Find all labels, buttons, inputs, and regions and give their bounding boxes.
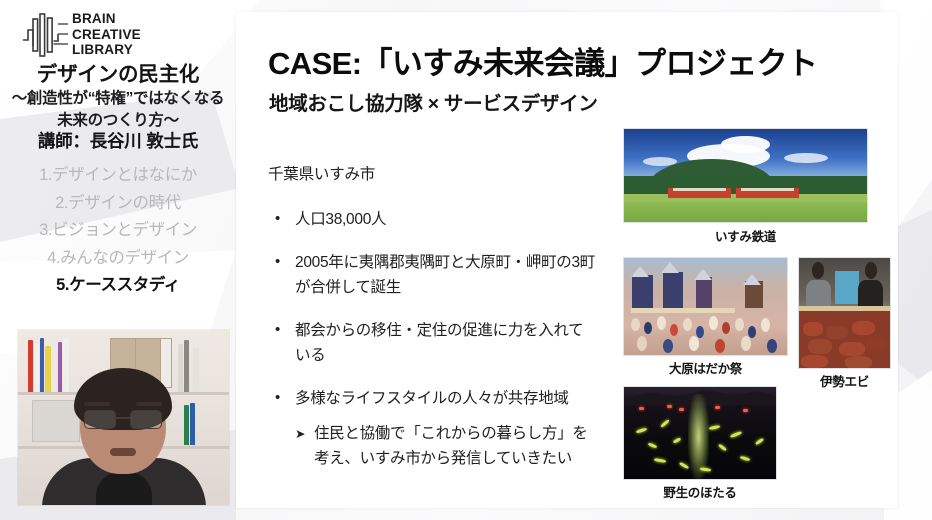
logo-line-library: LIBRARY bbox=[72, 42, 141, 58]
speaker-eyebrow bbox=[136, 402, 162, 406]
mikoshi-roof bbox=[743, 274, 761, 285]
lecture-subtitle-line-1: 〜創造性が“特権”ではなくなる bbox=[0, 88, 236, 110]
wild-firefly-photo: 野生のほたる bbox=[624, 387, 776, 479]
agenda-item-1[interactable]: 1.デザインとはなにか bbox=[0, 162, 236, 190]
carry-pole bbox=[631, 308, 735, 313]
slide-subtitle: 地域おこし協力隊 × サービスデザイン bbox=[269, 87, 598, 116]
worker-figure bbox=[804, 262, 831, 310]
worker-head bbox=[812, 262, 824, 278]
crowd-person bbox=[631, 318, 640, 331]
ise-lobster-photo: 伊勢エビ bbox=[799, 258, 890, 368]
logo-line-creative: CREATIVE bbox=[72, 27, 141, 43]
crowd-person bbox=[748, 326, 756, 338]
field-near bbox=[624, 202, 867, 222]
mikoshi-shrine bbox=[696, 277, 712, 308]
lecture-subtitle: 〜創造性が“特権”ではなくなる 未来のつくり方〜 bbox=[0, 88, 236, 132]
shelf-book bbox=[28, 340, 33, 392]
lobster bbox=[808, 339, 832, 353]
slide-panel: CASE:「いすみ未来会議」プロジェクト 地域おこし協力隊 × サービスデザイン… bbox=[236, 12, 898, 508]
slide-title: CASE:「いすみ未来会議」プロジェクト bbox=[268, 38, 817, 83]
shelf-book bbox=[45, 346, 51, 392]
shelf-book bbox=[58, 342, 62, 392]
shelf-book bbox=[34, 344, 39, 392]
shelf-book bbox=[190, 403, 195, 445]
shelf-storage-box bbox=[160, 338, 172, 388]
mikoshi-roof bbox=[631, 266, 649, 277]
train-windows bbox=[673, 188, 726, 191]
lecturer-name: 講師：長谷川 敦士氏 bbox=[0, 128, 236, 153]
agenda-item-2[interactable]: 2.デザインの時代 bbox=[0, 190, 236, 218]
photo-frame bbox=[624, 387, 776, 479]
logo-line-brain: BRAIN bbox=[72, 11, 141, 27]
crowd-person bbox=[761, 318, 770, 332]
crowd-person bbox=[709, 316, 718, 330]
speaker-mouth bbox=[110, 448, 136, 456]
crowd-person bbox=[644, 322, 652, 334]
shelf-book bbox=[63, 338, 69, 392]
lobster bbox=[845, 356, 872, 368]
crowd-person bbox=[670, 324, 678, 336]
lobster bbox=[839, 342, 864, 356]
shelf-book bbox=[40, 338, 44, 392]
blue-crate bbox=[835, 271, 859, 304]
crowd-person bbox=[696, 326, 704, 338]
photo-frame bbox=[624, 258, 787, 355]
sub-bullet-item: 住民と協働で「これからの暮らし方」を考え、いすみ市から発信していきたい bbox=[295, 421, 598, 471]
photo-caption: 伊勢エビ bbox=[799, 371, 890, 390]
agenda-list: 1.デザインとはなにか 2.デザインの時代 3.ビジョンとデザイン 4.みんなの… bbox=[0, 162, 236, 300]
logo-wordmark: BRAIN CREATIVE LIBRARY bbox=[72, 11, 141, 58]
shelf-book bbox=[52, 340, 57, 392]
shelf-book bbox=[184, 340, 189, 392]
photo-caption: 大原はだか祭 bbox=[624, 358, 787, 377]
lead-text: 千葉県いすみ市 bbox=[268, 164, 598, 185]
bullet-item: 2005年に夷隅郡夷隅町と大原町・岬町の3町が合併して誕生 bbox=[268, 250, 598, 300]
slide-body: 千葉県いすみ市 人口38,000人 2005年に夷隅郡夷隅町と大原町・岬町の3町… bbox=[268, 164, 598, 471]
crowd-person bbox=[657, 316, 666, 330]
mikoshi-roof bbox=[694, 269, 712, 280]
crowd-person bbox=[689, 336, 699, 351]
worker-figure bbox=[857, 262, 884, 310]
agenda-item-4[interactable]: 4.みんなのデザイン bbox=[0, 245, 236, 273]
photo-frame bbox=[624, 129, 867, 222]
shelf-storage-box bbox=[32, 400, 80, 442]
train-windows bbox=[741, 188, 794, 191]
lobster bbox=[865, 337, 887, 351]
shelf-book bbox=[193, 348, 199, 392]
cloud-shape bbox=[721, 136, 770, 153]
mikoshi-shrine bbox=[663, 272, 683, 309]
glasses-icon bbox=[84, 410, 162, 427]
mikoshi-roof bbox=[661, 262, 679, 273]
mikoshi-shrine bbox=[745, 281, 763, 308]
shelf-book bbox=[184, 405, 189, 445]
speaker-eyebrow bbox=[84, 402, 110, 406]
distant-light bbox=[743, 409, 748, 412]
agenda-item-5[interactable]: 5.ケーススタディ bbox=[0, 272, 236, 300]
sidebar: BRAIN CREATIVE LIBRARY デザインの民主化 〜創造性が“特権… bbox=[0, 0, 236, 520]
speaker-video[interactable] bbox=[18, 330, 229, 505]
crowd-person bbox=[722, 322, 730, 334]
photo-caption: 野生のほたる bbox=[624, 482, 776, 501]
lobster bbox=[852, 321, 876, 335]
crowd-person bbox=[735, 318, 744, 331]
isumi-railway-photo: いすみ鉄道 bbox=[624, 129, 867, 222]
lobster bbox=[801, 355, 828, 368]
ohara-hadaka-festival-photo: 大原はだか祭 bbox=[624, 258, 787, 355]
agenda-item-3[interactable]: 3.ビジョンとデザイン bbox=[0, 217, 236, 245]
photo-frame bbox=[799, 258, 890, 368]
bullet-item: 都会からの移住・定住の促進に力を入れている bbox=[268, 318, 598, 368]
lobster bbox=[826, 326, 848, 339]
presentation-viewer: BRAIN CREATIVE LIBRARY デザインの民主化 〜創造性が“特権… bbox=[0, 0, 932, 520]
crowd-person bbox=[683, 318, 692, 331]
distant-light bbox=[679, 408, 684, 411]
crowd-person bbox=[637, 336, 647, 351]
speaker-shirt bbox=[96, 472, 152, 505]
firefly-light-trail bbox=[688, 394, 709, 479]
brand-logo: BRAIN CREATIVE LIBRARY bbox=[22, 10, 174, 62]
distant-light bbox=[667, 405, 672, 408]
worker-head bbox=[865, 262, 877, 278]
lobster bbox=[803, 322, 823, 336]
bullet-item: 多様なライフスタイルの人々が共存地域 bbox=[268, 386, 598, 411]
photo-caption: いすみ鉄道 bbox=[624, 226, 867, 245]
waveform-logo-icon bbox=[22, 12, 68, 58]
bullet-item: 人口38,000人 bbox=[268, 207, 598, 232]
mikoshi-shrine bbox=[632, 275, 653, 308]
lecture-title: デザインの民主化 bbox=[0, 62, 236, 87]
shelf-book bbox=[178, 344, 183, 392]
